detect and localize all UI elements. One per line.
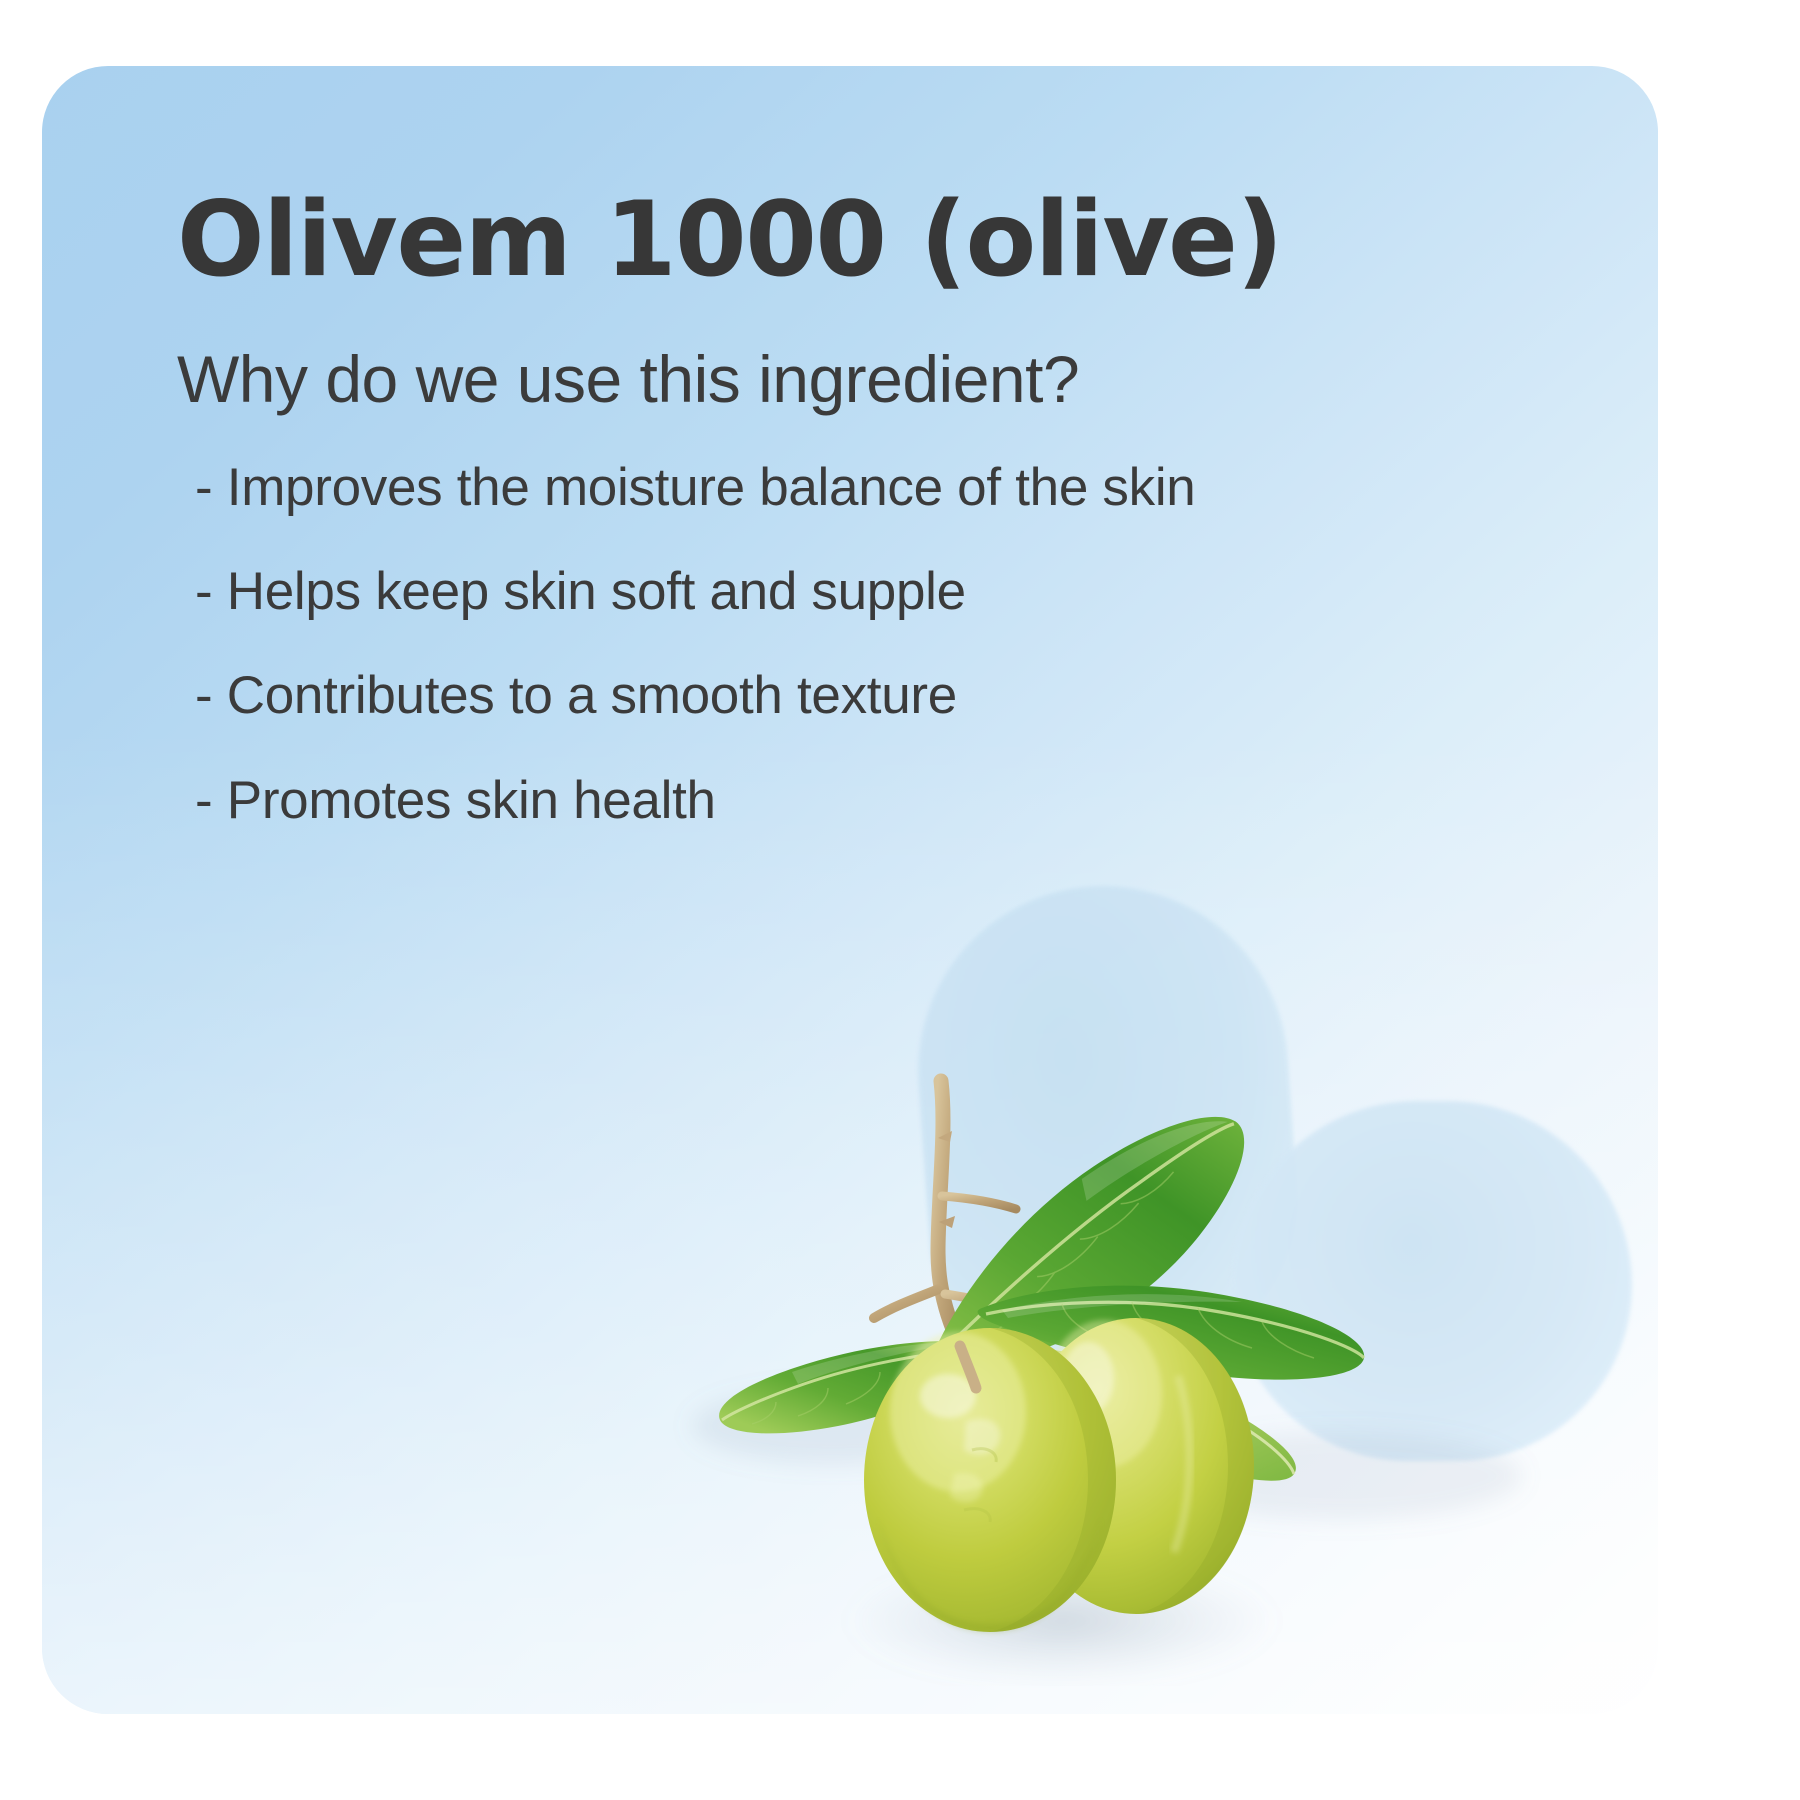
list-item: - Promotes skin health — [195, 771, 1527, 830]
olive-branch-image — [642, 1046, 1602, 1686]
benefits-list: - Improves the moisture balance of the s… — [177, 416, 1527, 830]
list-item: - Improves the moisture balance of the s… — [195, 458, 1527, 517]
text-content-block: Olivem 1000 (olive) Why do we use this i… — [177, 186, 1527, 830]
ingredient-card: Olivem 1000 (olive) Why do we use this i… — [42, 66, 1658, 1714]
subtitle-question: Why do we use this ingredient? — [177, 295, 1527, 416]
list-item: - Helps keep skin soft and supple — [195, 562, 1527, 621]
poster-canvas: Olivem 1000 (olive) Why do we use this i… — [0, 0, 1800, 1800]
page-title: Olivem 1000 (olive) — [177, 186, 1527, 295]
list-item: - Contributes to a smooth texture — [195, 666, 1527, 725]
olive-fruit-left — [864, 1328, 1116, 1632]
